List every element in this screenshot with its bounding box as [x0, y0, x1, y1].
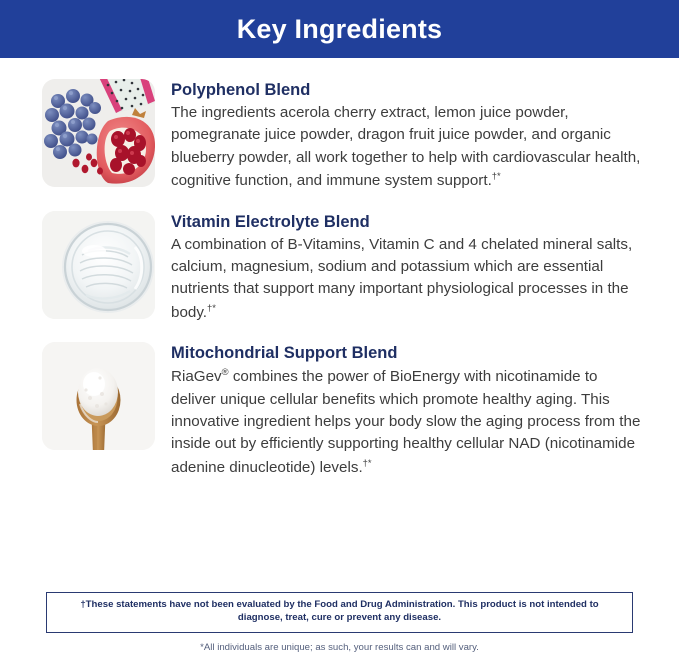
key-ingredients-panel: Key Ingredients [0, 0, 679, 660]
footnote-marker: †* [492, 170, 501, 181]
ingredient-row-mitochondrial-support-blend: Mitochondrial Support Blend RiaGev® comb… [42, 342, 645, 479]
ingredients-list: Polyphenol Blend The ingredients acerola… [0, 58, 679, 479]
ingredient-body-text: combines the power of BioEnergy with nic… [171, 368, 640, 475]
registered-trademark-icon: ® [222, 366, 229, 377]
ingredient-title: Mitochondrial Support Blend [171, 343, 645, 364]
ingredient-row-polyphenol-blend: Polyphenol Blend The ingredients acerola… [42, 79, 645, 193]
wooden-spoon-white-powder-photo [42, 342, 155, 450]
glass-of-water-photo [42, 211, 155, 319]
footnote-marker: †* [363, 457, 372, 468]
ingredient-row-vitamin-electrolyte-blend: Vitamin Electrolyte Blend A combination … [42, 211, 645, 325]
results-vary-note: *All individuals are unique; as such, yo… [46, 642, 633, 654]
ingredient-description: The ingredients acerola cherry extract, … [171, 102, 645, 192]
ingredient-body-text: The ingredients acerola cherry extract, … [171, 104, 640, 189]
footer: †These statements have not been evaluate… [0, 592, 679, 654]
ingredient-title: Vitamin Electrolyte Blend [171, 212, 645, 233]
ingredient-text-mitochondrial-support-blend: Mitochondrial Support Blend RiaGev® comb… [171, 342, 645, 479]
page-title: Key Ingredients [237, 14, 443, 45]
ingredient-body-text: A combination of B-Vitamins, Vitamin C a… [171, 236, 632, 321]
ingredient-description: RiaGev® combines the power of BioEnergy … [171, 365, 645, 479]
ingredient-description: A combination of B-Vitamins, Vitamin C a… [171, 234, 645, 324]
header-bar: Key Ingredients [0, 0, 679, 58]
ingredient-brand-name: RiaGev [171, 368, 222, 385]
berries-pomegranate-dragonfruit-photo [42, 79, 155, 187]
ingredient-text-vitamin-electrolyte-blend: Vitamin Electrolyte Blend A combination … [171, 211, 645, 325]
ingredient-title: Polyphenol Blend [171, 80, 645, 101]
fda-disclaimer-text: †These statements have not been evaluate… [61, 599, 618, 625]
fda-disclaimer-box: †These statements have not been evaluate… [46, 592, 633, 633]
footnote-marker: †* [207, 302, 216, 313]
ingredient-text-polyphenol-blend: Polyphenol Blend The ingredients acerola… [171, 79, 645, 193]
